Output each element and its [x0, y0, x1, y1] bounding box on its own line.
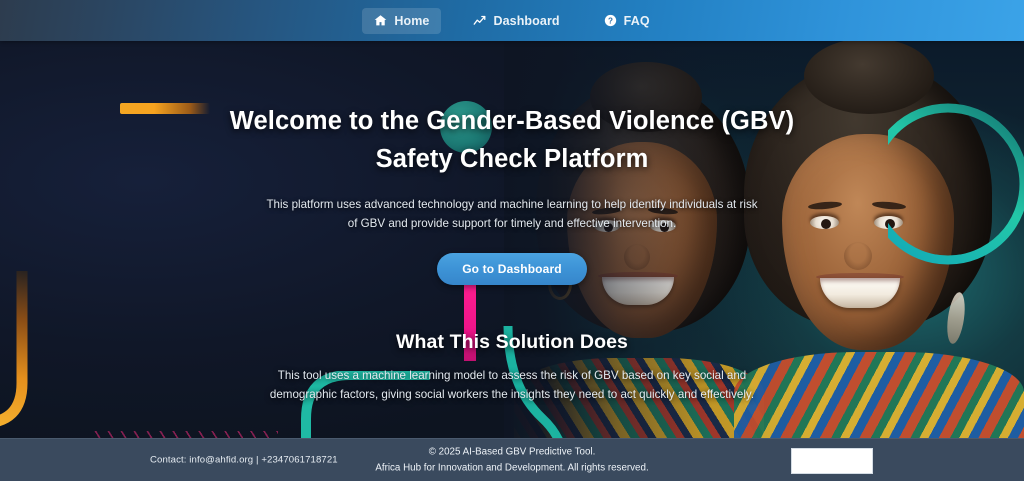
go-to-dashboard-button[interactable]: Go to Dashboard — [437, 253, 587, 285]
footer-organization: Africa Hub for Innovation and Developmen… — [375, 460, 648, 476]
top-navbar: Home Dashboard ? FAQ — [0, 0, 1024, 41]
footer-white-box[interactable] — [791, 448, 873, 474]
hero-subtitle: This platform uses advanced technology a… — [262, 196, 762, 234]
nav-item-dashboard-label: Dashboard — [493, 14, 559, 28]
page-root: Home Dashboard ? FAQ — [0, 0, 1024, 481]
hero-content: Welcome to the Gender-Based Violence (GB… — [0, 41, 1024, 438]
cta-wrapper: Go to Dashboard — [0, 253, 1024, 285]
question-circle-icon: ? — [604, 14, 617, 27]
solution-section-description: This tool uses a machine learning model … — [254, 367, 770, 405]
nav-item-home-label: Home — [394, 14, 429, 28]
home-icon — [374, 14, 387, 27]
nav-item-dashboard[interactable]: Dashboard — [461, 8, 571, 34]
solution-section-title: What This Solution Does — [0, 331, 1024, 354]
svg-text:?: ? — [608, 16, 613, 25]
footer-center: © 2025 AI-Based GBV Predictive Tool. Afr… — [375, 444, 648, 475]
nav-item-faq-label: FAQ — [624, 14, 650, 28]
hero-section: Welcome to the Gender-Based Violence (GB… — [0, 41, 1024, 438]
footer-contact: Contact: info@ahfid.org | +2347061718721 — [150, 455, 338, 466]
page-footer: Contact: info@ahfid.org | +2347061718721… — [0, 438, 1024, 481]
nav-item-faq[interactable]: ? FAQ — [592, 8, 662, 34]
line-chart-icon — [473, 14, 486, 27]
footer-copyright: © 2025 AI-Based GBV Predictive Tool. — [375, 444, 648, 460]
nav-item-home[interactable]: Home — [362, 8, 441, 34]
page-title: Welcome to the Gender-Based Violence (GB… — [192, 103, 832, 178]
nav-items: Home Dashboard ? FAQ — [362, 8, 661, 34]
